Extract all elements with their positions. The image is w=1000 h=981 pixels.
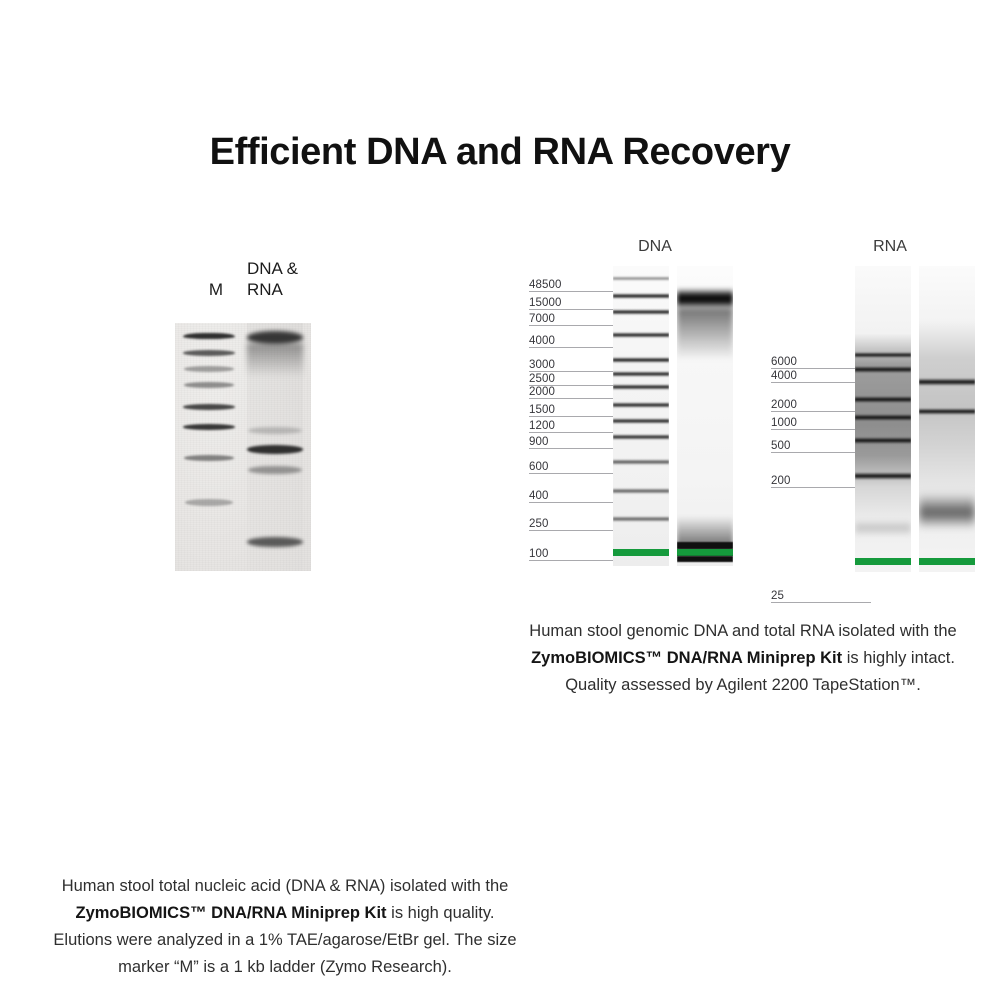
tapestation-lane-dna-sample [677,266,733,566]
ladder-tick-label: 2000 [771,399,797,411]
ladder-tick-label: 4000 [771,370,797,382]
ladder-tick-label: 2500 [529,373,555,385]
lower-marker-band [613,549,669,556]
agarose-gel-image [175,323,311,571]
ladder-tick-label: 100 [529,548,549,560]
lower-marker-band [677,549,733,556]
tapestation-lane-rna-sample [919,266,975,572]
ladder-tick-label: 3000 [529,359,555,371]
ladder-tick-label: 1200 [529,420,555,432]
caption-right-product: ZymoBIOMICS™ DNA/RNA Miniprep Kit [531,649,842,667]
ladder-tick-label: 1000 [771,417,797,429]
caption-left-product: ZymoBIOMICS™ DNA/RNA Miniprep Kit [76,904,387,922]
caption-left: Human stool total nucleic acid (DNA & RN… [50,873,520,981]
lower-marker-band [919,558,975,565]
lower-marker-band [855,558,911,565]
tapestation-lane-dna-ladder [613,266,669,566]
gel-lane-label-sample: DNA & RNA [247,258,325,300]
panel-title-rna: RNA [815,238,965,256]
page-title: Efficient DNA and RNA Recovery [0,131,1000,174]
gel-lane-labels: M DNA & RNA [175,255,355,310]
ladder-tick-label: 1500 [529,404,555,416]
ladder-tick-label: 200 [771,475,791,487]
caption-right: Human stool genomic DNA and total RNA is… [508,618,978,699]
ladder-tick-rule [771,602,871,603]
rrna-18s-band [919,408,975,415]
ladder-tick-label: 6000 [771,356,797,368]
panel-title-dna: DNA [575,238,735,256]
gel-lane-label-marker: M [201,279,231,300]
ladder-tick-label: 250 [529,518,549,530]
ladder-tick-25: 25 [763,589,871,603]
ladder-tick-label: 900 [529,436,549,448]
ladder-tick-label: 500 [771,440,791,452]
ladder-tick-label: 48500 [529,279,561,291]
rrna-28s-band [919,378,975,386]
ladder-tick-label: 7000 [529,313,555,325]
caption-right-part1: Human stool genomic DNA and total RNA is… [529,622,956,640]
small-rna-smear [919,494,975,528]
genomic-dna-band [677,288,733,310]
ladder-tick-label: 15000 [529,297,561,309]
tapestation-lane-rna-ladder [855,266,911,572]
ladder-tick-label: 600 [529,461,549,473]
ladder-tick-label: 2000 [529,386,555,398]
ladder-tick-label: 25 [771,590,784,602]
genomic-dna-smear [677,308,733,358]
caption-left-part1: Human stool total nucleic acid (DNA & RN… [62,877,509,895]
ladder-tick-label: 4000 [529,335,555,347]
ladder-tick-label: 400 [529,490,549,502]
